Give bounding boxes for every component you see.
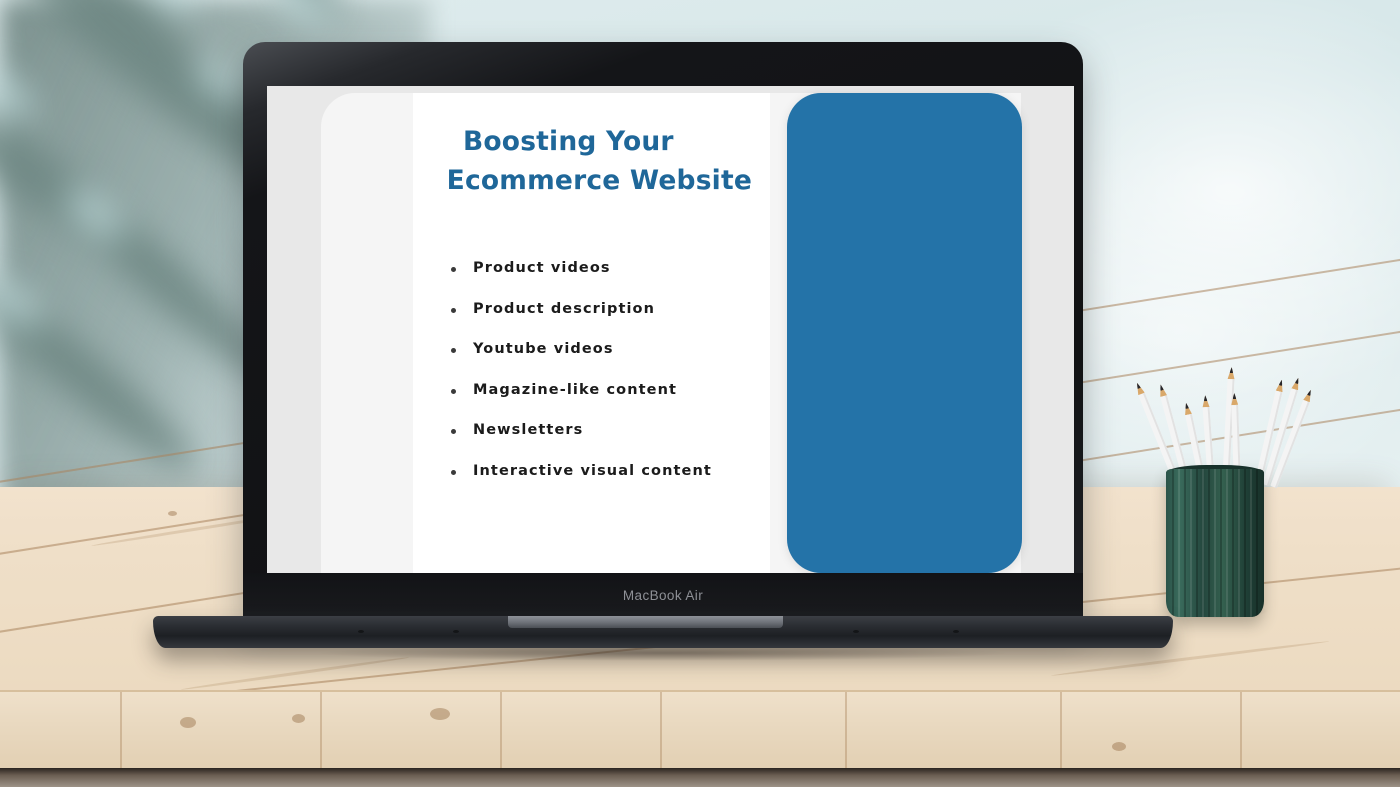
- pencil-cup: [1130, 365, 1330, 625]
- scene: Boosting Your Ecommerce Website Product …: [0, 0, 1400, 787]
- list-item: Product videos: [447, 260, 770, 276]
- slide-title-line-1: Boosting Your: [435, 123, 756, 162]
- laptop-screen[interactable]: Boosting Your Ecommerce Website Product …: [267, 86, 1074, 573]
- slide-title: Boosting Your Ecommerce Website: [413, 93, 770, 200]
- cup-ribs: [1166, 469, 1264, 617]
- list-item: Newsletters: [447, 422, 770, 438]
- desk-front-edge: [0, 690, 1400, 772]
- list-item: Youtube videos: [447, 341, 770, 357]
- laptop-lid: Boosting Your Ecommerce Website Product …: [243, 42, 1083, 622]
- slide-accent-panel: [787, 93, 1022, 573]
- desk-under-shadow: [0, 768, 1400, 787]
- laptop-base-notch: [508, 616, 783, 628]
- slide-bullet-list: Product videos Product description Youtu…: [413, 200, 770, 479]
- laptop-chin-bezel: MacBook Air: [243, 573, 1083, 622]
- slide-text-content: Boosting Your Ecommerce Website Product …: [413, 93, 770, 573]
- laptop-base: [153, 616, 1173, 648]
- list-item: Magazine-like content: [447, 382, 770, 398]
- cup-body: [1166, 469, 1264, 617]
- presentation-slide[interactable]: Boosting Your Ecommerce Website Product …: [267, 86, 1074, 573]
- slide-title-line-2: Ecommerce Website: [435, 162, 756, 201]
- list-item: Interactive visual content: [447, 463, 770, 479]
- list-item: Product description: [447, 301, 770, 317]
- laptop: Boosting Your Ecommerce Website Product …: [243, 42, 1083, 642]
- laptop-model-label: MacBook Air: [623, 588, 703, 603]
